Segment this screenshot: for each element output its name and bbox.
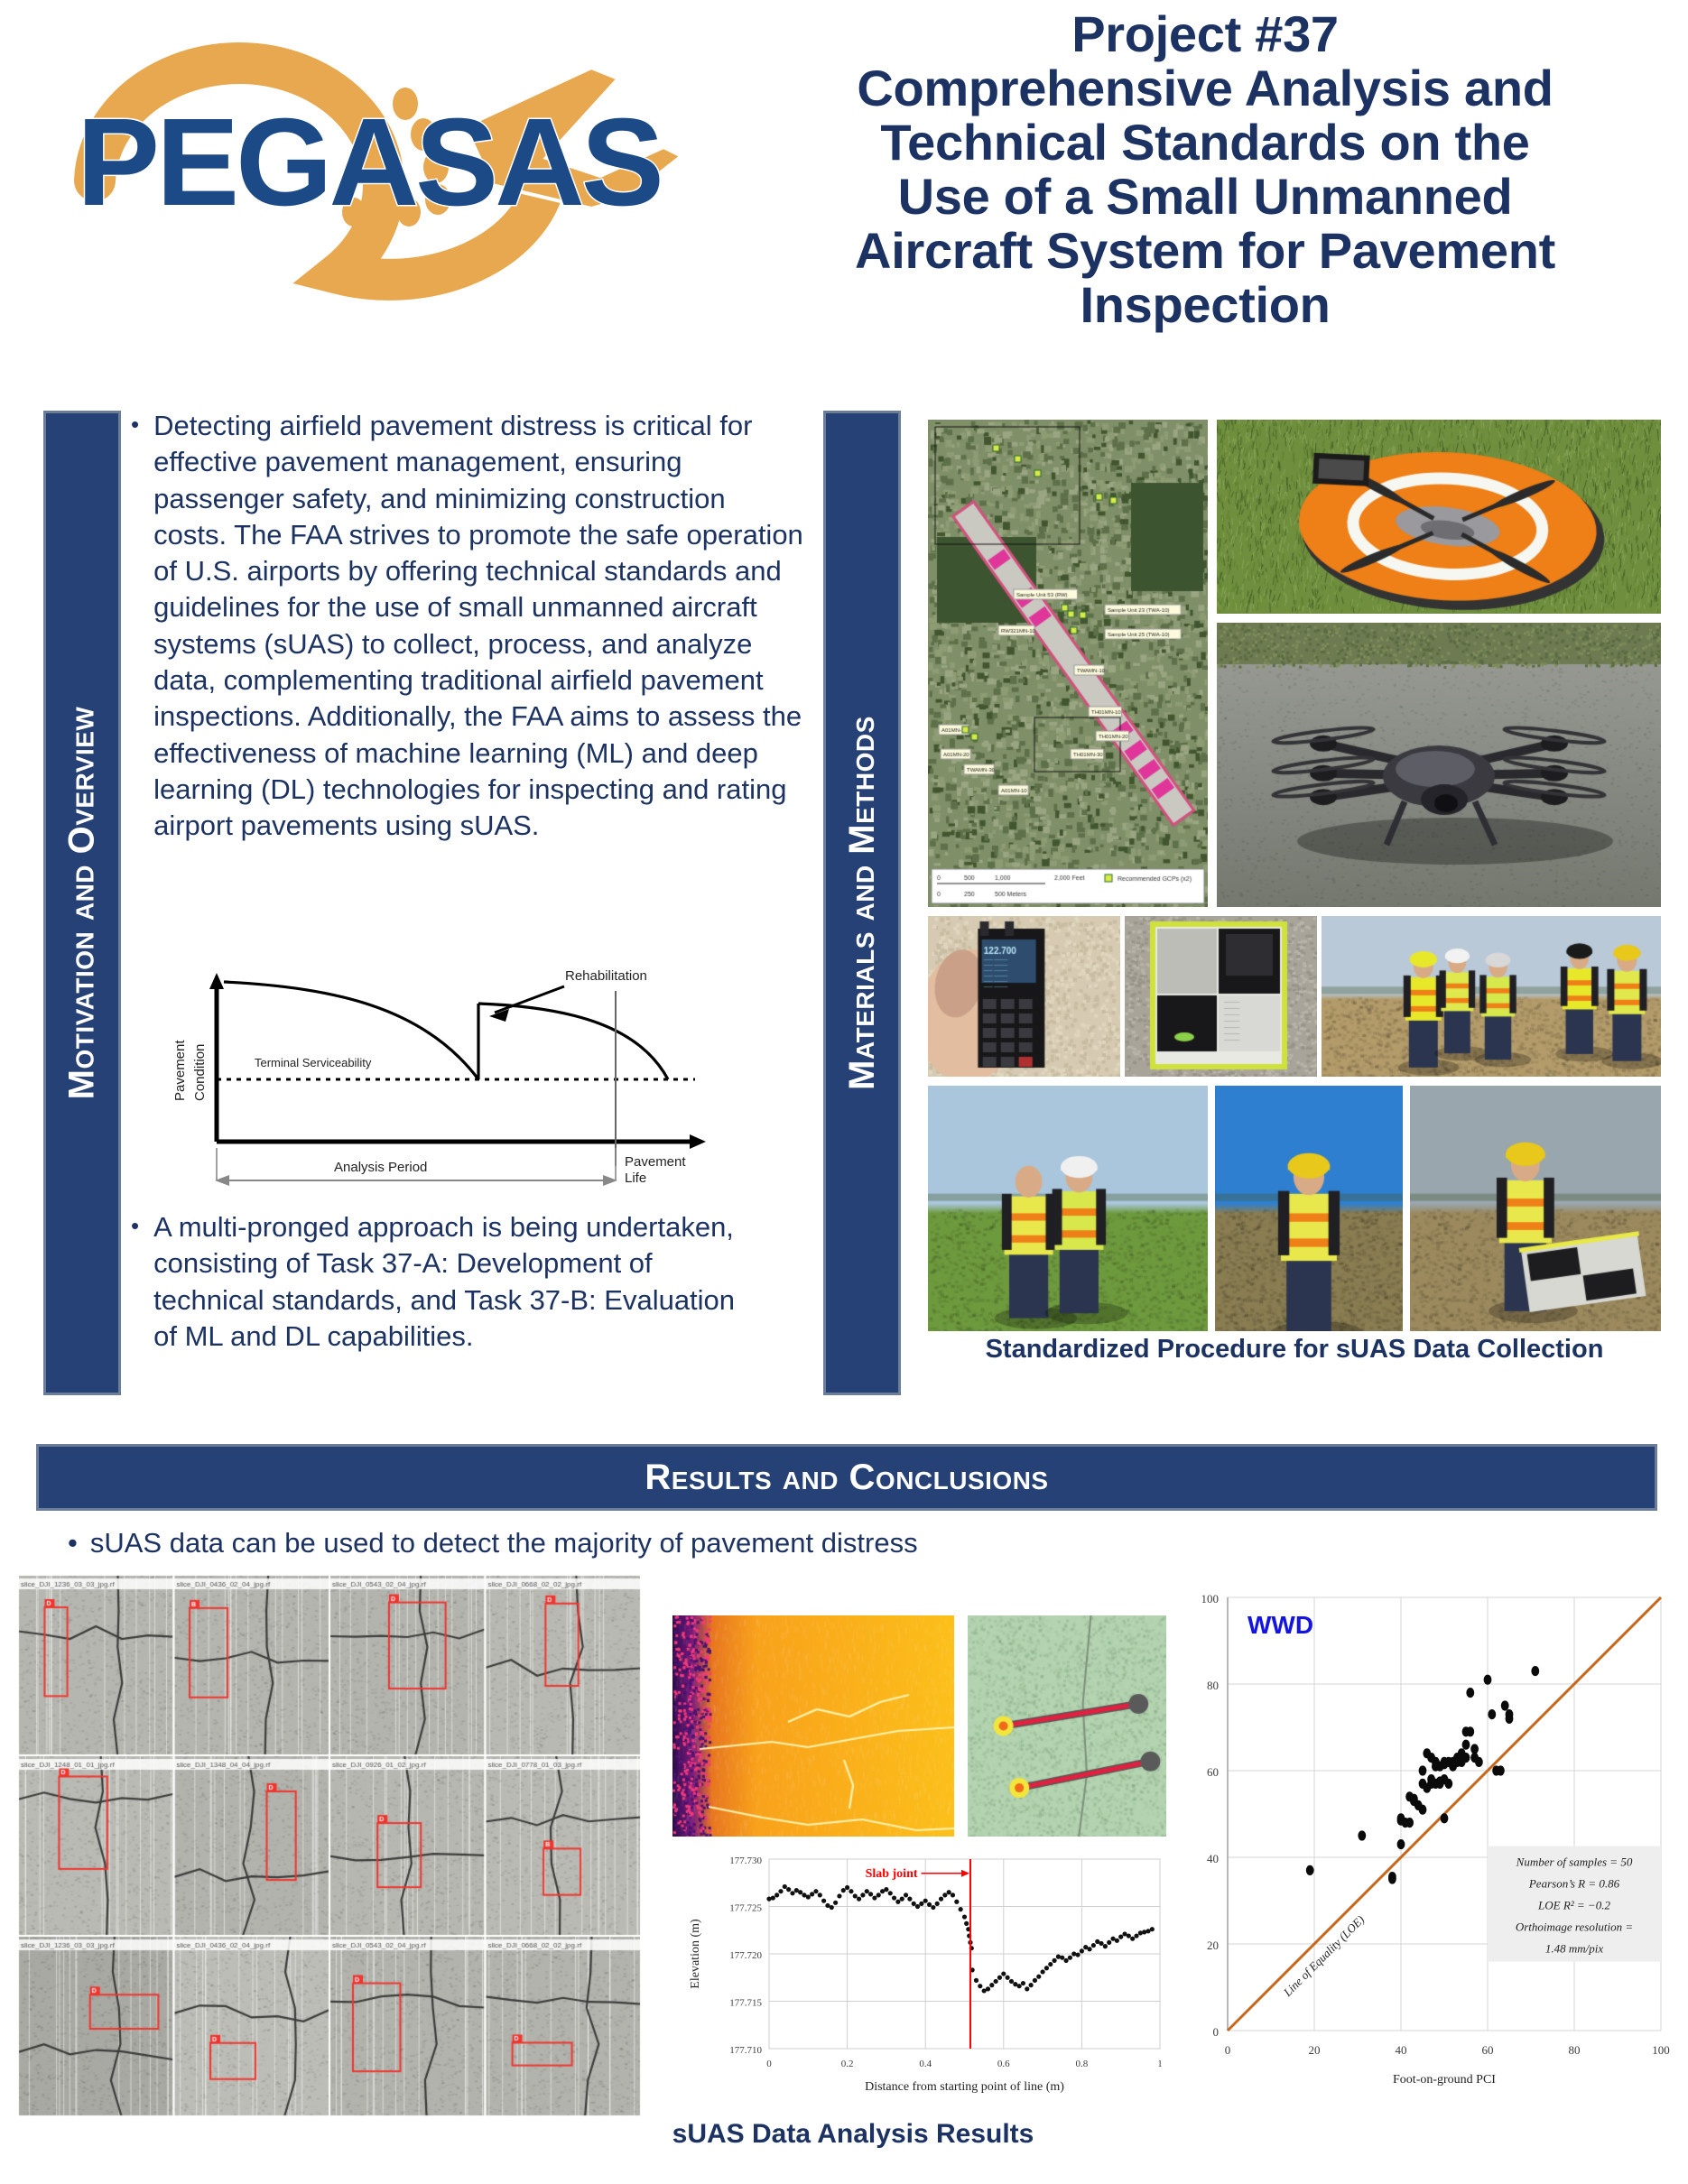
handheld-radio-image [928, 916, 1120, 1077]
motivation-body: • Detecting airfield pavement distress i… [131, 408, 803, 845]
svg-text:60: 60 [1482, 2043, 1494, 2057]
title-line-1: Project #37 [749, 7, 1661, 61]
drone-closeup-runway-image [1217, 623, 1661, 907]
svg-text:1.48 mm/pix: 1.48 mm/pix [1545, 1942, 1604, 1956]
svg-text:Life: Life [625, 1171, 646, 1186]
results-bullet: • sUAS data can be used to detect the ma… [68, 1527, 1151, 1559]
materials-caption: Standardized Procedure for sUAS Data Col… [928, 1334, 1661, 1365]
svg-text:80: 80 [1569, 2043, 1581, 2057]
aerial-survey-map-image [928, 420, 1208, 907]
crew-two-operators-image [928, 1086, 1208, 1331]
pcdiag-ylabel-pavement: Pavement [172, 1040, 188, 1101]
svg-text:0: 0 [1213, 2025, 1220, 2039]
results-bullet-text: sUAS data can be used to detect the majo… [90, 1527, 918, 1559]
svg-text:0: 0 [1225, 2043, 1231, 2057]
svg-text:20: 20 [1207, 1939, 1219, 1952]
pavement-condition-diagram: Rehabilitation Terminal Serviceability A… [153, 957, 731, 1200]
svg-text:Slab joint: Slab joint [866, 1867, 918, 1881]
pcdiag-label-terminal-serviceability: Terminal Serviceability [255, 1056, 372, 1069]
sidebar-motivation-label: Motivation and Overview [62, 707, 103, 1100]
svg-text:WWD: WWD [1247, 1611, 1313, 1639]
ground-control-target-image [1125, 916, 1317, 1077]
results-banner-label: Results and Conclusions [645, 1458, 1048, 1498]
svg-text:PEGASAS: PEGASAS [77, 93, 661, 232]
pegasas-logo: PEGASAS [41, 41, 754, 302]
svg-text:LOE R² = −0.2: LOE R² = −0.2 [1537, 1899, 1610, 1912]
poster-header: PEGASAS Project #37 Comprehensive Analys… [0, 0, 1688, 406]
svg-text:177.715: 177.715 [729, 1998, 762, 2009]
pcdiag-label-rehabilitation: Rehabilitation [565, 968, 647, 984]
svg-text:Elevation (m): Elevation (m) [689, 1919, 702, 1989]
svg-text:0.6: 0.6 [997, 2059, 1010, 2069]
svg-text:1: 1 [1157, 2059, 1163, 2069]
svg-text:40: 40 [1396, 2043, 1407, 2057]
sidebar-motivation-and-overview: Motivation and Overview [43, 411, 121, 1395]
svg-text:Orthoimage resolution =: Orthoimage resolution = [1516, 1920, 1633, 1934]
svg-text:0: 0 [766, 2059, 772, 2069]
svg-text:100: 100 [1201, 1592, 1220, 1606]
svg-text:177.720: 177.720 [729, 1950, 762, 1961]
title-line-3: Technical Standards on the [749, 116, 1661, 170]
technician-placing-target-image [1410, 1086, 1661, 1331]
svg-text:177.725: 177.725 [729, 1903, 762, 1914]
svg-text:0.8: 0.8 [1076, 2059, 1089, 2069]
motivation-bullet-2-text: A multi-pronged approach is being undert… [153, 1209, 763, 1355]
svg-text:0.2: 0.2 [841, 2059, 854, 2069]
title-line-5: Aircraft System for Pavement [749, 224, 1661, 278]
point-cloud-measurement-image [968, 1615, 1166, 1837]
poster-title: Project #37 Comprehensive Analysis and T… [749, 7, 1661, 331]
bullet-marker-icon: • [131, 408, 139, 845]
svg-text:80: 80 [1207, 1679, 1219, 1692]
title-line-6: Inspection [749, 278, 1661, 332]
pcdiag-label-pavement-life: Pavement [625, 1154, 686, 1170]
bullet-marker-icon-2: • [131, 1209, 139, 1355]
motivation-bullet-1: • Detecting airfield pavement distress i… [131, 408, 803, 845]
materials-image-grid [928, 420, 1661, 1331]
crew-briefing-vehicles-image [1322, 916, 1661, 1077]
svg-text:Pearson’s R = 0.86: Pearson’s R = 0.86 [1528, 1877, 1620, 1891]
svg-text:0.4: 0.4 [919, 2059, 932, 2069]
pcdiag-label-analysis-period: Analysis Period [334, 1160, 427, 1175]
svg-text:20: 20 [1309, 2043, 1321, 2057]
title-line-4: Use of a Small Unmanned [749, 170, 1661, 224]
thermal-orthoimage [672, 1615, 954, 1837]
bullet-marker-icon-3: • [68, 1527, 78, 1559]
drone-on-landing-pad-image [1217, 420, 1661, 614]
svg-text:100: 100 [1652, 2043, 1670, 2057]
title-line-2: Comprehensive Analysis and [749, 61, 1661, 116]
operator-with-controller-image [1215, 1086, 1403, 1331]
elevation-profile-chart: 177.710177.715177.720177.725177.73000.20… [668, 1837, 1173, 2098]
results-caption: sUAS Data Analysis Results [483, 2119, 1223, 2150]
sidebar-materials-label: Materials and Methods [842, 716, 883, 1090]
poster-root: PEGASAS Project #37 Comprehensive Analys… [0, 0, 1688, 2184]
results-banner: Results and Conclusions [36, 1444, 1657, 1511]
svg-text:40: 40 [1207, 1852, 1219, 1865]
motivation-bullet-1-text: Detecting airfield pavement distress is … [153, 408, 803, 845]
wwd-pci-scatter-chart: 020406080100020406080100Line of Equality… [1173, 1570, 1674, 2107]
svg-text:177.730: 177.730 [729, 1855, 762, 1866]
svg-text:Foot-on-ground PCI: Foot-on-ground PCI [1393, 2073, 1496, 2087]
svg-text:Distance from starting point o: Distance from starting point of line (m) [865, 2080, 1064, 2094]
motivation-bullet-2: • A multi-pronged approach is being unde… [131, 1209, 763, 1355]
crack-detection-grid-image [18, 1575, 641, 2116]
svg-text:177.710: 177.710 [729, 2045, 762, 2056]
svg-text:Condition: Condition [192, 1044, 208, 1101]
sidebar-materials-and-methods: Materials and Methods [823, 411, 901, 1395]
svg-text:Number of samples = 50: Number of samples = 50 [1516, 1855, 1633, 1869]
svg-text:60: 60 [1207, 1765, 1219, 1779]
